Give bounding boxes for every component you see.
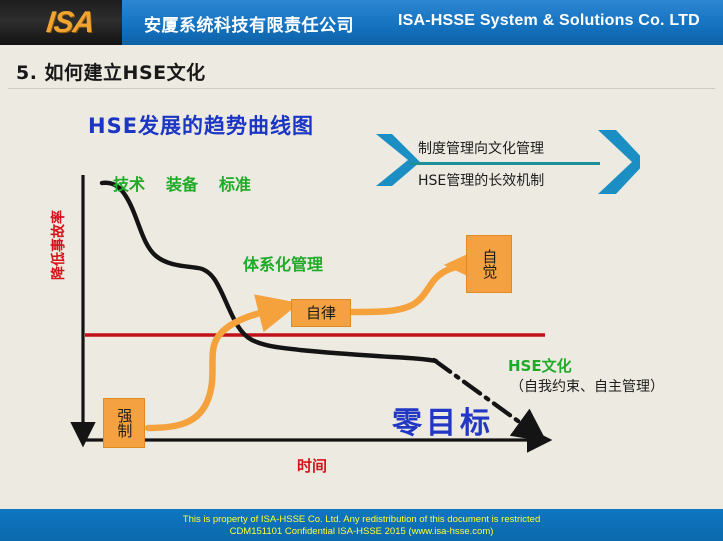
stage-box-self-discipline-label: 自律 [306, 305, 336, 322]
label-standard: 标准 [219, 171, 251, 195]
culture-path-segment-1 [148, 307, 284, 428]
presentation-slide: ISA 安厦系统科技有限责任公司 ISA-HSSE System & Solut… [0, 0, 723, 541]
label-zero-goal: 零目标 [392, 398, 494, 442]
stage-box-awareness-label: 自觉 [481, 249, 498, 279]
label-hse-culture-subtitle: （自我约束、自主管理） [510, 376, 664, 396]
trend-curve-chart [0, 0, 723, 541]
stage-box-awareness: 自觉 [466, 235, 512, 293]
stage-box-compel: 强制 [103, 398, 145, 448]
culture-path-segment-2 [352, 265, 463, 312]
label-equipment: 装备 [166, 171, 198, 195]
slide-footer: This is property of ISA-HSSE Co. Ltd. An… [0, 509, 723, 541]
stage-box-self-discipline: 自律 [291, 299, 351, 327]
y-axis-title: 降低事故率 [48, 185, 68, 305]
stage-box-compel-label: 强制 [116, 408, 133, 438]
label-systematic-management: 体系化管理 [243, 251, 323, 275]
label-hse-culture: HSE文化 [508, 355, 572, 376]
footer-line-1: This is property of ISA-HSSE Co. Ltd. An… [0, 514, 723, 526]
label-technology: 技术 [113, 171, 145, 195]
x-axis-title: 时间 [297, 455, 327, 476]
footer-line-2: CDM151101 Confidential ISA-HSSE 2015 (ww… [0, 526, 723, 538]
